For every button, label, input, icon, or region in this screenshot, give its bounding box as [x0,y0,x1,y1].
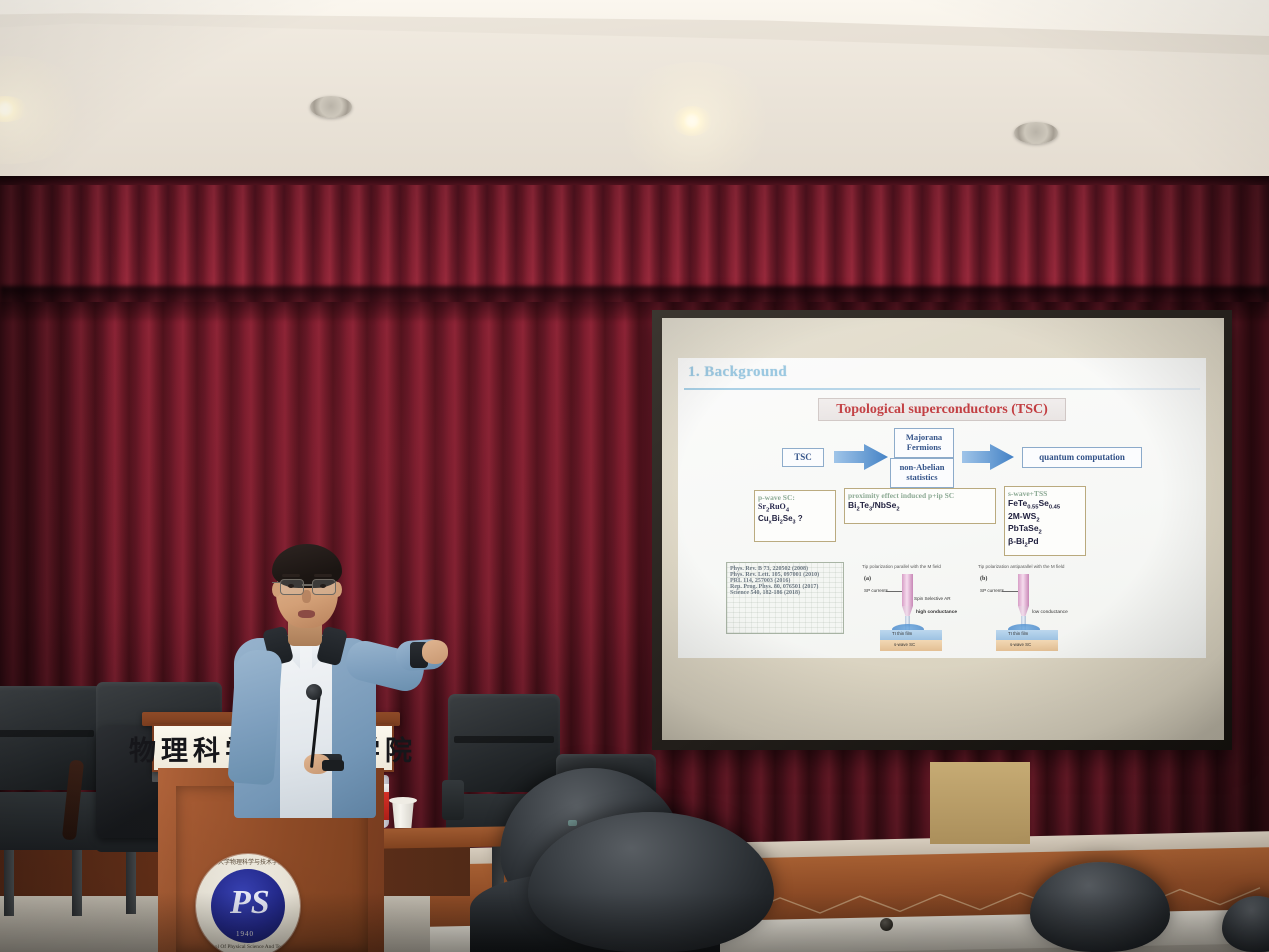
panel-a-result-label: high conductance [916,610,957,615]
panel-a-mechanism-label: Spin Selective AR [914,596,951,601]
panel-a-sc-layer-label: s-wave SC [894,642,915,647]
lecture-hall-photo: 1. Background Topological superconductor… [0,0,1269,952]
s-wave-tss-box: s-wave+TSS FeTe0.55Se0.45 2M-WS2 PbTaSe2… [1004,486,1086,556]
downlight-right-icon [1014,122,1058,144]
chair-left-leg [4,850,14,916]
references-box: Phys. Rev. B 73, 220502 (2008) Phys. Rev… [726,562,844,634]
panel-a-ti-layer-label: TI thin film [892,631,912,636]
arrow-right-icon-1 [834,444,888,470]
ceiling [0,0,1269,186]
panel-a-sp-currents-label: SP currents [864,588,888,593]
proximity-effect-item-0: Bi2Te3/NbSe2 [848,500,992,513]
flow-node-nonabelian: non-Abelian statistics [890,458,954,488]
speaker-hand-right [422,640,448,664]
flow-node-tsc: TSC [782,448,824,467]
figure-caption-left: Tip polarization parallel with the M fie… [862,564,941,569]
flow-node-quantum-computation: quantum computation [1022,447,1142,468]
speaker-arm-left [227,649,282,786]
panel-b-tip-shaft [1018,574,1029,606]
p-wave-sc-item-0: Sr2RuO4 [758,502,832,514]
podium-emblem-year: 1940 [236,930,254,938]
audience-hair-clip-1 [568,820,577,826]
panel-a-label: (a) [864,576,871,582]
flow-node-majorana-line2: Fermions [907,443,941,453]
chair-center-back [448,694,560,792]
apron-speaker-left [880,918,893,931]
flow-node-majorana: Majorana Fermions [894,428,954,458]
slide-banner-tsc: Topological superconductors (TSC) [818,398,1066,421]
panel-a-tip-shaft [902,574,913,606]
panel-b-sp-currents-label: SP currents [980,588,1004,593]
downlight-center-icon [672,106,712,136]
proximity-effect-box: proximity effect induced p+ip SC Bi2Te3/… [844,488,996,524]
slide-title: 1. Background [688,364,787,381]
chair-center-left-leg [126,852,136,914]
chair-left[interactable] [0,686,110,936]
podium-emblem-english: School Of Physical Science And Technolog… [204,944,300,950]
flow-node-tsc-label: TSC [794,452,812,462]
reference-4: Science 540, 182-186 (2018) [730,590,840,596]
speaker-eye-right [320,584,326,588]
speaker-glasses-temple [272,582,281,583]
speaker-nose [302,590,311,603]
speaker [228,532,458,862]
panel-b-ti-layer-label: TI thin film [1008,631,1028,636]
downlight-center-left-icon [310,96,352,118]
speaker-eye-left [288,584,294,588]
chair-center-crease [454,736,554,743]
figure-caption-right: Tip polarization antiparallel with the M… [978,564,1064,569]
stage-back-alcove [930,762,1030,844]
flow-node-quantum-computation-label: quantum computation [1039,452,1125,462]
speaker-brow-right [314,574,332,577]
arrow-right-icon-2 [962,444,1014,470]
chair-left-leg2 [72,850,82,916]
s-wave-tss-item-1: 2M-WS2 [1008,511,1082,524]
p-wave-sc-box: p-wave SC: Sr2RuO4 CuxBi2Se3 ? [754,490,836,542]
p-wave-sc-heading: p-wave SC: [758,493,832,502]
chair-left-seat [0,792,106,850]
podium-emblem: PS 1940 School Of Physical Science And T… [196,854,300,952]
chair-left-crease [0,730,94,737]
panel-a-sp-currents-leader [886,591,902,592]
microphone-head-icon [306,684,322,700]
s-wave-tss-item-2: PbTaSe2 [1008,523,1082,536]
proximity-effect-heading: proximity effect induced p+ip SC [848,491,992,500]
panel-b-result-label: low conductance [1032,610,1068,615]
slide-title-rule [684,388,1200,390]
s-wave-tss-heading: s-wave+TSS [1008,489,1082,498]
presentation-slide: 1. Background Topological superconductor… [678,358,1206,658]
s-wave-tss-item-0: FeTe0.55Se0.45 [1008,498,1082,511]
speaker-brow-left [282,574,300,577]
panel-b-sc-layer-label: s-wave SC [1010,642,1031,647]
panel-b-sp-currents-leader [1002,591,1018,592]
podium-emblem-monogram: PS [230,884,270,922]
s-wave-tss-item-3: β-Bi2Pd [1008,536,1082,549]
speaker-mouth [298,610,315,618]
flow-node-nonabelian-line2: statistics [906,473,937,483]
speaker-shirt [280,638,332,818]
panel-b-label: (b) [980,576,987,582]
chair-left-back [0,686,102,790]
presentation-clicker[interactable] [322,760,344,771]
p-wave-sc-item-1: CuxBi2Se3 ? [758,514,832,526]
speaker-glasses-bridge [302,584,312,586]
